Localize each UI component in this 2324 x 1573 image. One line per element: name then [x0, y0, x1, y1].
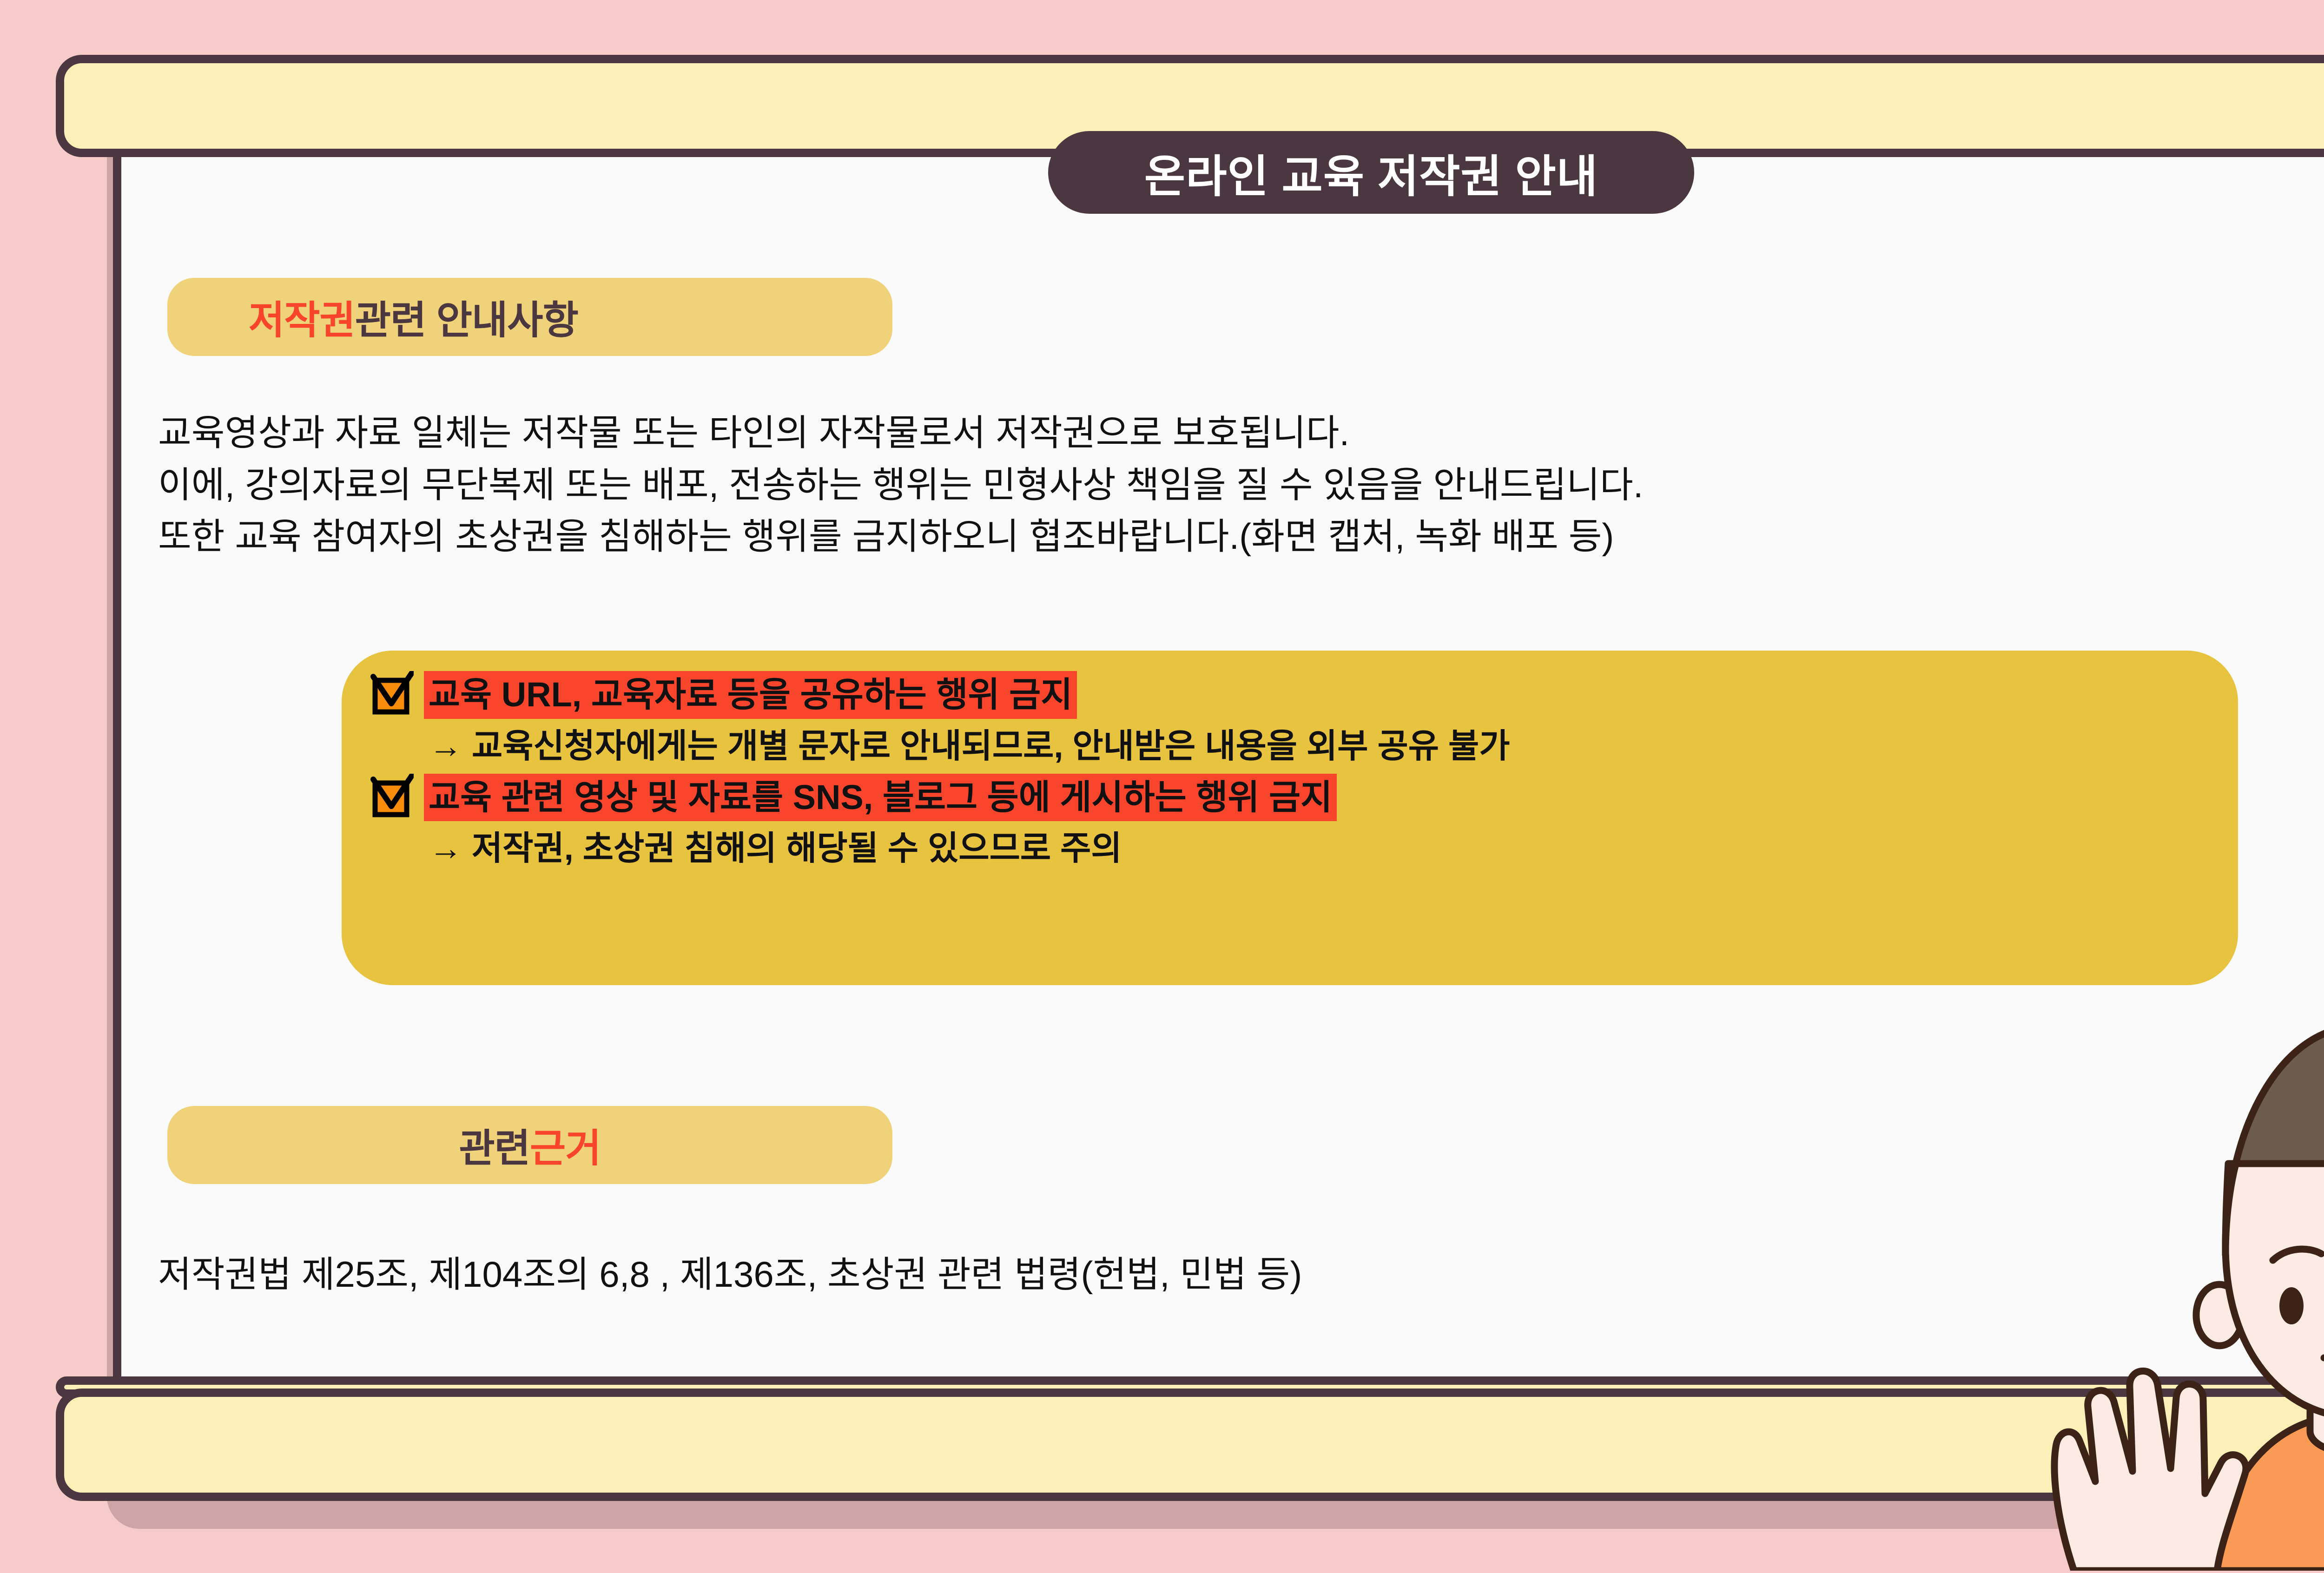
section-header-basis-label: 관련 — [459, 1117, 530, 1173]
alert-siren-info-icon — [2319, 186, 2324, 428]
prohibition-checklist: 교육 URL, 교육자료 등을 공유하는 행위 금지 → 교육신청자에게는 개별… — [342, 651, 2238, 985]
bottom-decor-bar — [56, 1389, 2324, 1501]
checklist-item-main: 교육 URL, 교육자료 등을 공유하는 행위 금지 — [424, 671, 1077, 719]
checklist-item: 교육 관련 영상 및 자료를 SNS, 블로그 등에 게시하는 행위 금지 — [370, 774, 2238, 822]
boy-stop-gesture-icon — [2031, 948, 2324, 1571]
checkbox-checked-icon — [370, 671, 414, 717]
checklist-item-sub: → 저작권, 초상권 침해의 해당될 수 있으므로 주의 — [429, 828, 2238, 869]
paragraph-line-2: 이에, 강의자료의 무단복제 또는 배포, 전송하는 행위는 민형사상 책임을 … — [158, 461, 1643, 509]
section-header-copyright-accent: 저작권 — [249, 289, 355, 345]
paragraph-line-3: 또한 교육 참여자의 초상권을 침해하는 행위를 금지하오니 협조바랍니다.(화… — [158, 513, 1643, 561]
page-title: 온라인 교육 저작권 안내 — [1048, 131, 1694, 214]
checklist-item: 교육 URL, 교육자료 등을 공유하는 행위 금지 — [370, 671, 2238, 719]
paragraph-line-1: 교육영상과 자료 일체는 저작물 또는 타인의 자작물로서 저작권으로 보호됩니… — [158, 409, 1643, 457]
checklist-item-main: 교육 관련 영상 및 자료를 SNS, 블로그 등에 게시하는 행위 금지 — [424, 774, 1337, 822]
checkbox-checked-icon — [370, 774, 414, 820]
section-header-copyright: 저작권 관련 안내사항 — [167, 278, 892, 356]
section-header-copyright-rest: 관련 안내사항 — [355, 289, 578, 345]
legal-basis-text: 저작권법 제25조, 제104조의 6,8 , 제136조, 초상권 관련 법령… — [158, 1245, 1302, 1297]
page-title-text: 온라인 교육 저작권 안내 — [1144, 140, 1598, 205]
section-header-legal-basis: 관련 근거 — [167, 1106, 892, 1184]
slide-root: 온라인 교육 저작권 안내 저작권 관련 안내사항 교육영상과 자료 일체는 저… — [0, 0, 2324, 1568]
copyright-paragraph: 교육영상과 자료 일체는 저작물 또는 타인의 자작물로서 저작권으로 보호됩니… — [158, 409, 1643, 565]
checklist-item-sub: → 교육신청자에게는 개별 문자로 안내되므로, 안내받은 내용을 외부 공유 … — [429, 725, 2238, 767]
section-header-basis-accent: 근거 — [530, 1117, 601, 1173]
